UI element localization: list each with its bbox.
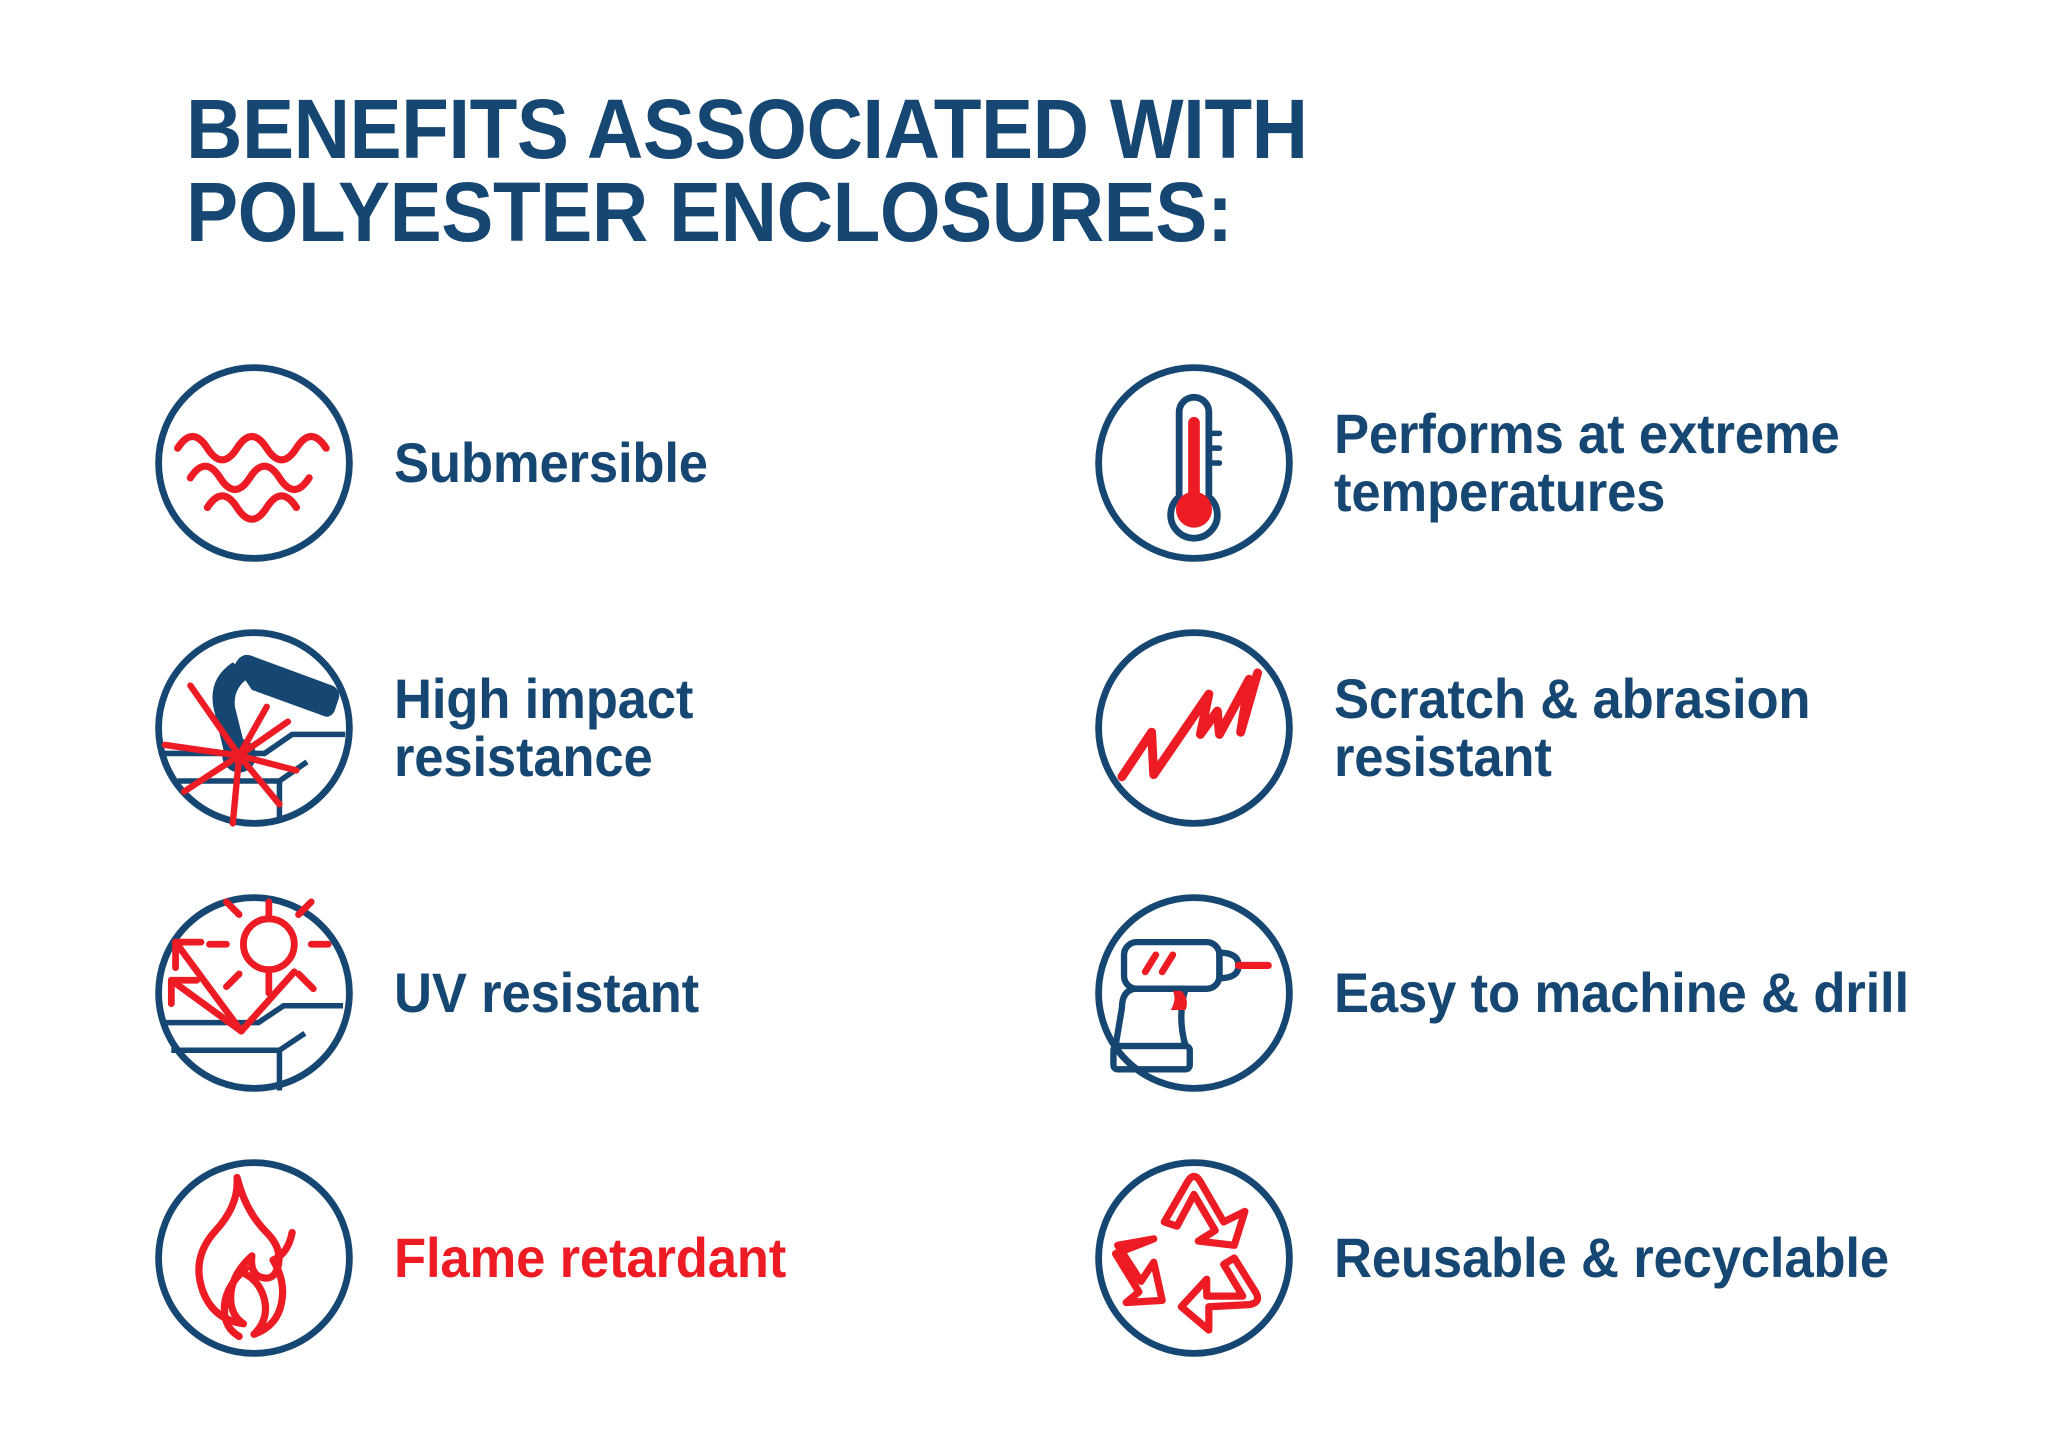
benefit-label: UV resistant [394, 964, 699, 1021]
benefit-label: Scratch & abrasion resistant [1334, 670, 1810, 784]
benefit-label: Reusable & recyclable [1334, 1229, 1889, 1286]
benefit-item-flame-retardant: Flame retardant [120, 1125, 1020, 1390]
sun-reflection-icon [148, 887, 360, 1099]
benefit-item-easy-to-machine-drill: Easy to machine & drill [1060, 860, 1960, 1125]
recycle-icon [1088, 1152, 1300, 1364]
benefit-item-uv-resistant: UV resistant [120, 860, 1020, 1125]
benefit-label: Easy to machine & drill [1334, 964, 1909, 1021]
power-drill-icon [1088, 887, 1300, 1099]
benefit-item-high-impact-resistance: High impact resistance [120, 595, 1020, 860]
benefit-label: High impact resistance [394, 670, 693, 784]
benefit-item-extreme-temperatures: Performs at extreme temperatures [1060, 330, 1960, 595]
thermometer-icon [1088, 357, 1300, 569]
waves-icon [148, 357, 360, 569]
benefit-item-scratch-abrasion-resistant: Scratch & abrasion resistant [1060, 595, 1960, 860]
benefit-item-submersible: Submersible [120, 330, 1020, 595]
benefit-item-reusable-recyclable: Reusable & recyclable [1060, 1125, 1960, 1390]
benefits-grid: Submersible Performs at extreme temperat… [120, 330, 1960, 1390]
scratch-mark-icon [1088, 622, 1300, 834]
infographic-page: BENEFITS ASSOCIATED WITH POLYESTER ENCLO… [0, 0, 2048, 1430]
flame-icon [148, 1152, 360, 1364]
benefit-label: Flame retardant [394, 1229, 786, 1286]
hammer-impact-icon [148, 622, 360, 834]
page-title: BENEFITS ASSOCIATED WITH POLYESTER ENCLO… [186, 88, 1581, 254]
benefit-label: Performs at extreme temperatures [1334, 405, 1840, 519]
benefit-label: Submersible [394, 434, 708, 491]
